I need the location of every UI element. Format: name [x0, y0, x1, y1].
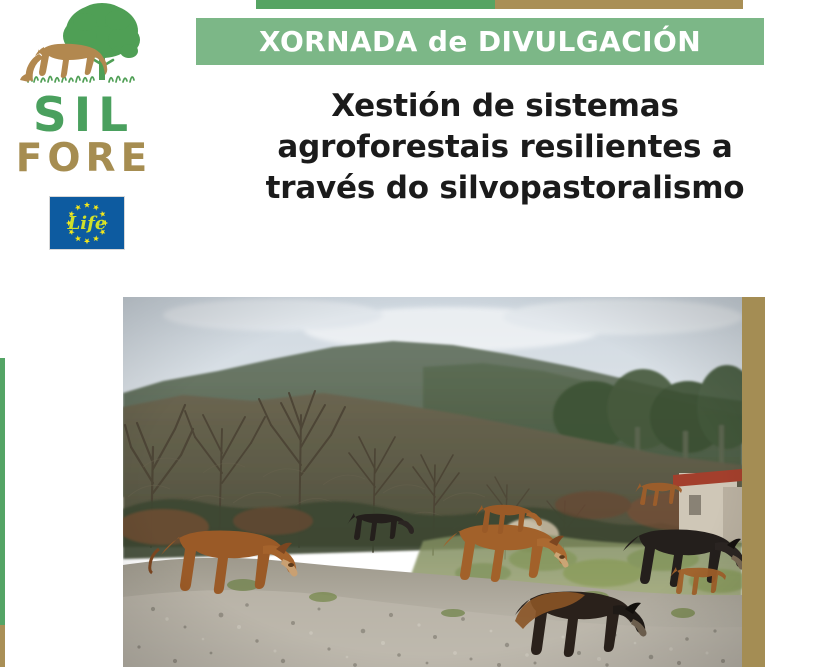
page-title-line-3: través do silvopastoralismo [190, 168, 820, 209]
logo-wordmark-sil: SIL [8, 92, 160, 139]
page-title: Xestión de sistemas agroforestais resili… [190, 86, 820, 210]
hero-photo [123, 297, 742, 667]
top-accent-strip-tan [495, 0, 743, 9]
page-title-line-2: agroforestais resilientes a [190, 127, 820, 168]
horse-and-tree-icon [14, 2, 154, 92]
left-accent-bar [0, 358, 5, 667]
page-title-line-1: Xestión de sistemas [190, 86, 820, 127]
svg-text:Life: Life [67, 213, 107, 234]
left-accent-bar-green [0, 358, 5, 625]
photo-right-accent-bar [742, 297, 765, 667]
top-accent-strip [256, 0, 743, 9]
silvofore-logo: SIL FORE [8, 2, 183, 260]
eu-life-programme-logo: Life [49, 196, 125, 250]
top-accent-strip-green [256, 0, 495, 9]
event-type-banner: XORNADA de DIVULGACIÓN [196, 18, 764, 65]
hero-photo-image [123, 297, 742, 667]
event-type-banner-label: XORNADA de DIVULGACIÓN [259, 25, 701, 58]
logo-wordmark-fore: FORE [8, 139, 160, 178]
left-accent-bar-tan [0, 625, 5, 667]
